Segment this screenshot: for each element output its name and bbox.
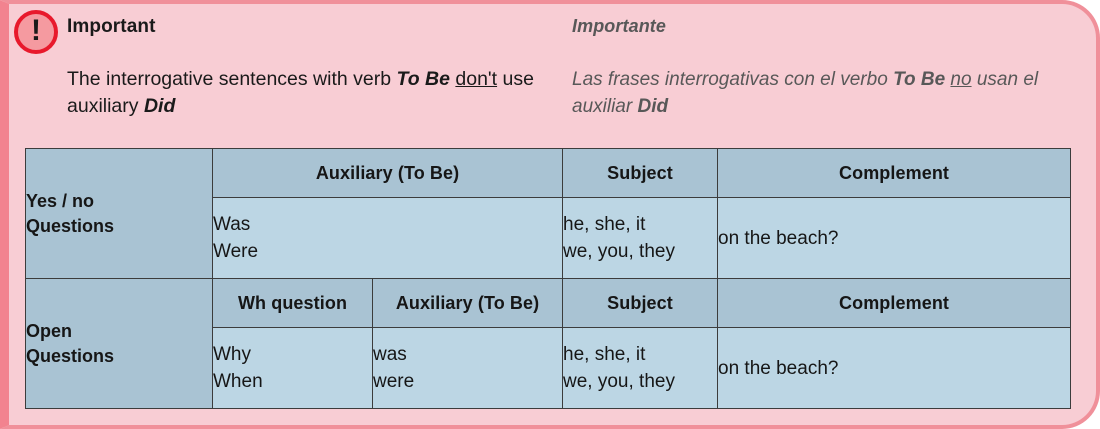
row-label-line2: Questions <box>26 344 212 369</box>
cell-auxiliary-values: Was Were <box>213 198 563 279</box>
body-es-underline1: no <box>950 69 971 90</box>
row-label-line1: Yes / no <box>26 189 212 214</box>
cell-line1: he, she, it <box>563 211 717 238</box>
row-label-line2: Questions <box>26 214 212 239</box>
cell-auxiliary-values: was were <box>373 328 563 409</box>
cell-wh-question-values: Why When <box>213 328 373 409</box>
cell-line2: we, you, they <box>563 238 717 265</box>
body-en-part1: The interrogative sentences with verb <box>67 68 397 90</box>
body-es-emphasis2: Did <box>637 96 668 117</box>
column-header-auxiliary-to-be: Auxiliary (To Be) <box>373 279 563 328</box>
cell-subject-values: he, she, it we, you, they <box>563 198 718 279</box>
body-en-underline1: don't <box>455 68 497 90</box>
callout-title-english: Important <box>67 16 156 38</box>
exclamation-circle-icon: ! <box>14 10 58 54</box>
exclamation-mark-glyph: ! <box>31 16 41 46</box>
cell-complement-values: on the beach? <box>718 328 1071 409</box>
column-header-subject: Subject <box>563 149 718 198</box>
row-label-yes-no-questions: Yes / no Questions <box>26 149 213 279</box>
column-header-wh-question: Wh question <box>213 279 373 328</box>
table-row: Yes / no Questions Auxiliary (To Be) Sub… <box>26 149 1071 198</box>
cell-line2: were <box>373 368 562 395</box>
cell-line2: we, you, they <box>563 368 717 395</box>
cell-line2: When <box>213 368 372 395</box>
cell-line1: was <box>373 341 562 368</box>
row-label-open-questions: Open Questions <box>26 279 213 409</box>
column-header-complement: Complement <box>718 149 1071 198</box>
question-structure-table: Yes / no Questions Auxiliary (To Be) Sub… <box>25 148 1071 409</box>
body-en-emphasis2: Did <box>144 95 175 117</box>
callout-header: ! Important The interrogative sentences … <box>9 4 1100 144</box>
callout-title-spanish: Importante <box>572 16 666 37</box>
body-es-part1: Las frases interrogativas con el verbo <box>572 69 893 90</box>
column-header-auxiliary-to-be: Auxiliary (To Be) <box>213 149 563 198</box>
column-header-complement: Complement <box>718 279 1071 328</box>
cell-line2: Were <box>213 238 562 265</box>
important-callout-panel: ! Important The interrogative sentences … <box>0 0 1100 429</box>
column-header-subject: Subject <box>563 279 718 328</box>
cell-line1: Why <box>213 341 372 368</box>
cell-complement-values: on the beach? <box>718 198 1071 279</box>
callout-body-english: The interrogative sentences with verb To… <box>67 66 547 120</box>
cell-line1: on the beach? <box>718 355 1070 382</box>
cell-subject-values: he, she, it we, you, they <box>563 328 718 409</box>
body-en-emphasis1: To Be <box>397 68 450 90</box>
cell-line1: he, she, it <box>563 341 717 368</box>
table-row: Open Questions Wh question Auxiliary (To… <box>26 279 1071 328</box>
body-es-emphasis1: To Be <box>893 69 945 90</box>
row-label-line1: Open <box>26 319 212 344</box>
callout-body-spanish: Las frases interrogativas con el verbo T… <box>572 66 1042 120</box>
cell-line1: Was <box>213 211 562 238</box>
cell-line1: on the beach? <box>718 225 1070 252</box>
